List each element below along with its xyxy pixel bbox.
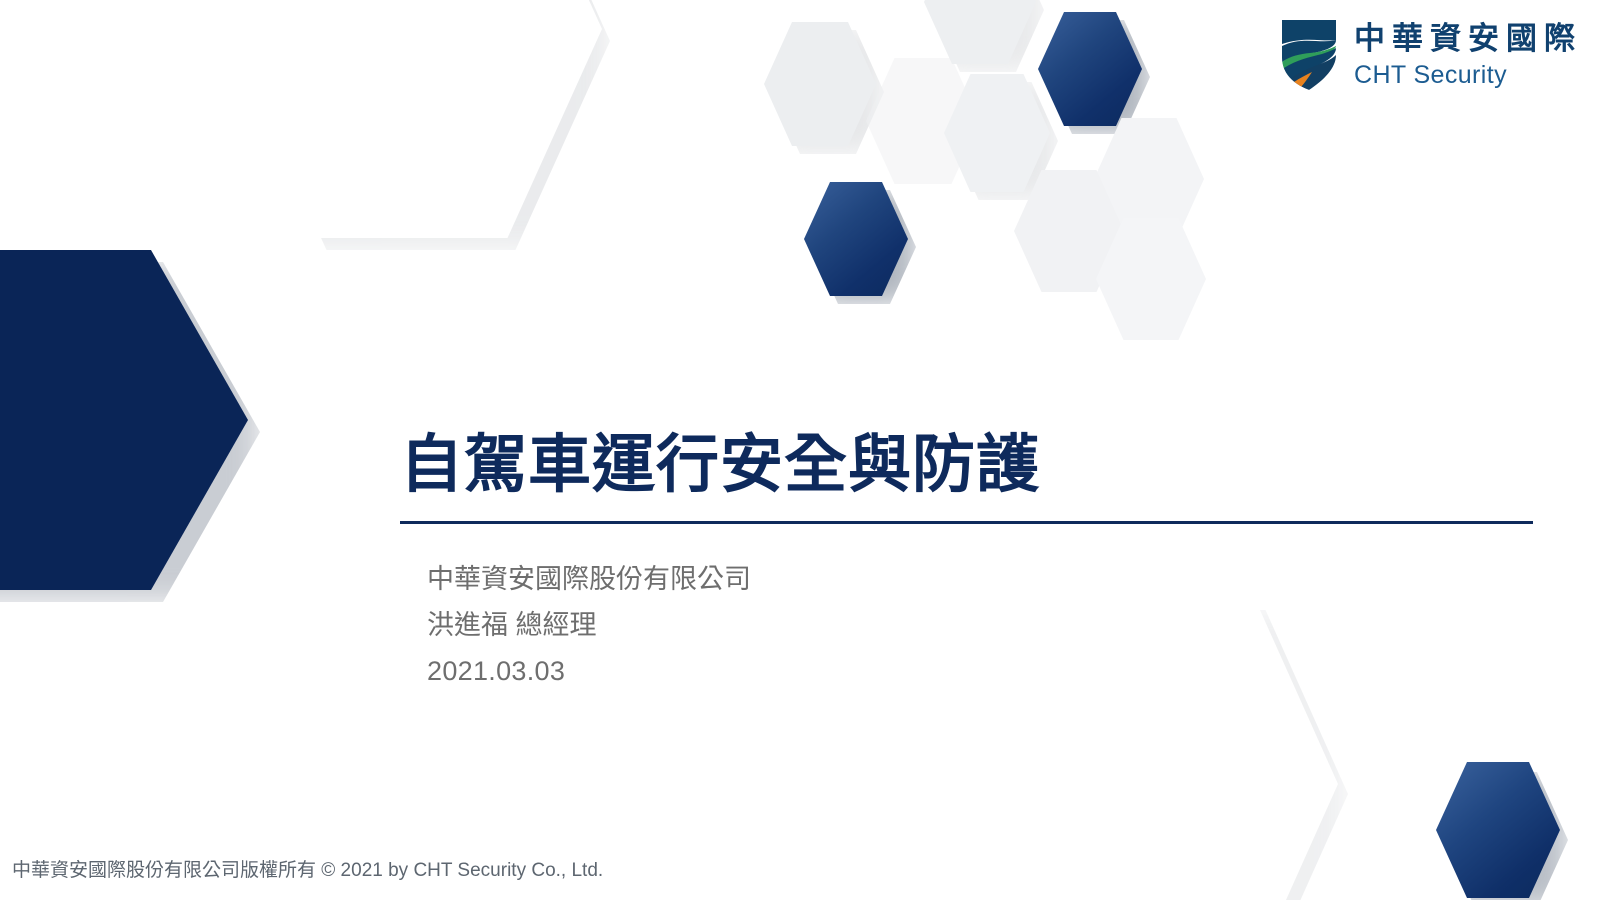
cht-shield-icon xyxy=(1278,18,1340,92)
title-underline-rule xyxy=(400,521,1533,524)
hex-large-white-top xyxy=(224,0,602,238)
brand-logo-english: CHT Security xyxy=(1354,63,1582,88)
title-slide: 中華資安國際 CHT Security 自駕車運行安全與防護 中華資安國際股份有… xyxy=(0,0,1600,900)
footer-copyright: 中華資安國際股份有限公司版權所有 © 2021 by CHT Security … xyxy=(12,855,603,882)
subtitle-company: 中華資安國際股份有限公司 xyxy=(427,556,751,602)
hex-navy-bottom-right xyxy=(1436,762,1560,898)
hex-large-white-bottom xyxy=(1008,600,1338,900)
subtitle-presenter: 洪進福 總經理 xyxy=(427,602,751,648)
hex-navy-lower xyxy=(804,182,908,296)
hex-navy-top xyxy=(1038,12,1142,126)
brand-logo-text: 中華資安國際 CHT Security xyxy=(1354,23,1582,88)
hex-light-upper-left xyxy=(764,22,876,146)
hex-ghost-right-lower xyxy=(1096,218,1206,340)
subtitle-block: 中華資安國際股份有限公司 洪進福 總經理 2021.03.03 xyxy=(427,556,751,694)
hex-light-top-center xyxy=(924,0,1036,64)
title-block: 自駕車運行安全與防護 xyxy=(400,430,1535,524)
hex-navy-left-large xyxy=(0,250,248,590)
brand-logo: 中華資安國際 CHT Security xyxy=(1278,18,1582,92)
page-title: 自駕車運行安全與防護 xyxy=(400,430,1535,501)
subtitle-date: 2021.03.03 xyxy=(427,648,751,694)
brand-logo-chinese: 中華資安國際 xyxy=(1354,23,1582,54)
